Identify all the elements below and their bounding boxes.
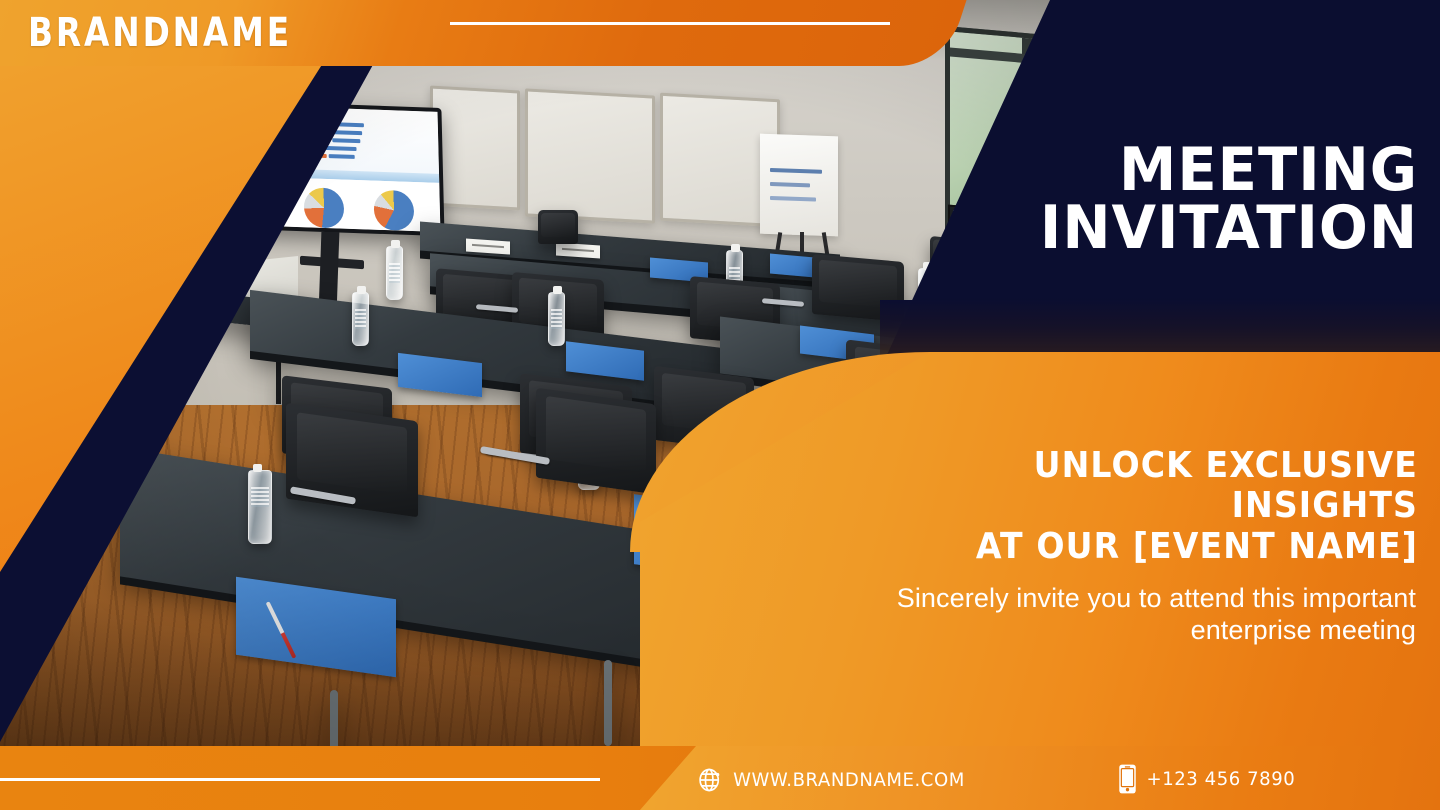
brand-banner-content: BRANDNAME	[0, 0, 1015, 66]
event-tagline: UNLOCK EXCLUSIVE INSIGHTS AT OUR [EVENT …	[866, 446, 1418, 567]
brand-name: BRANDNAME	[28, 10, 292, 56]
water-bottle	[248, 470, 272, 544]
water-bottle	[548, 292, 565, 346]
banner-divider-line	[450, 22, 890, 25]
website-contact[interactable]: WWW.BRANDNAME.COM	[697, 766, 965, 794]
phone-number: +123 456 7890	[1147, 768, 1296, 790]
whiteboard	[430, 85, 520, 210]
table-leg	[604, 660, 612, 746]
tagline-line-2: AT OUR [EVENT NAME]	[866, 527, 1418, 567]
footer-divider-line	[0, 778, 600, 781]
whiteboard	[525, 88, 655, 223]
meeting-invitation-poster: MEETING INVITATION UNLOCK EXCLUSIVE INSI…	[0, 0, 1440, 810]
chair	[538, 210, 578, 244]
water-bottle	[386, 246, 403, 300]
flipchart	[760, 134, 838, 237]
title-line-2: INVITATION	[919, 200, 1418, 258]
page-title: MEETING INVITATION	[919, 142, 1418, 257]
globe-icon	[697, 766, 724, 794]
chair	[536, 388, 656, 495]
invitation-subtext: Sincerely invite you to attend this impo…	[806, 582, 1416, 647]
website-url: WWW.BRANDNAME.COM	[733, 769, 965, 791]
tagline-line-1: UNLOCK EXCLUSIVE INSIGHTS	[1034, 445, 1418, 526]
mobile-phone-icon	[1118, 764, 1137, 794]
water-bottle	[352, 292, 369, 346]
phone-contact[interactable]: +123 456 7890	[1118, 764, 1295, 794]
